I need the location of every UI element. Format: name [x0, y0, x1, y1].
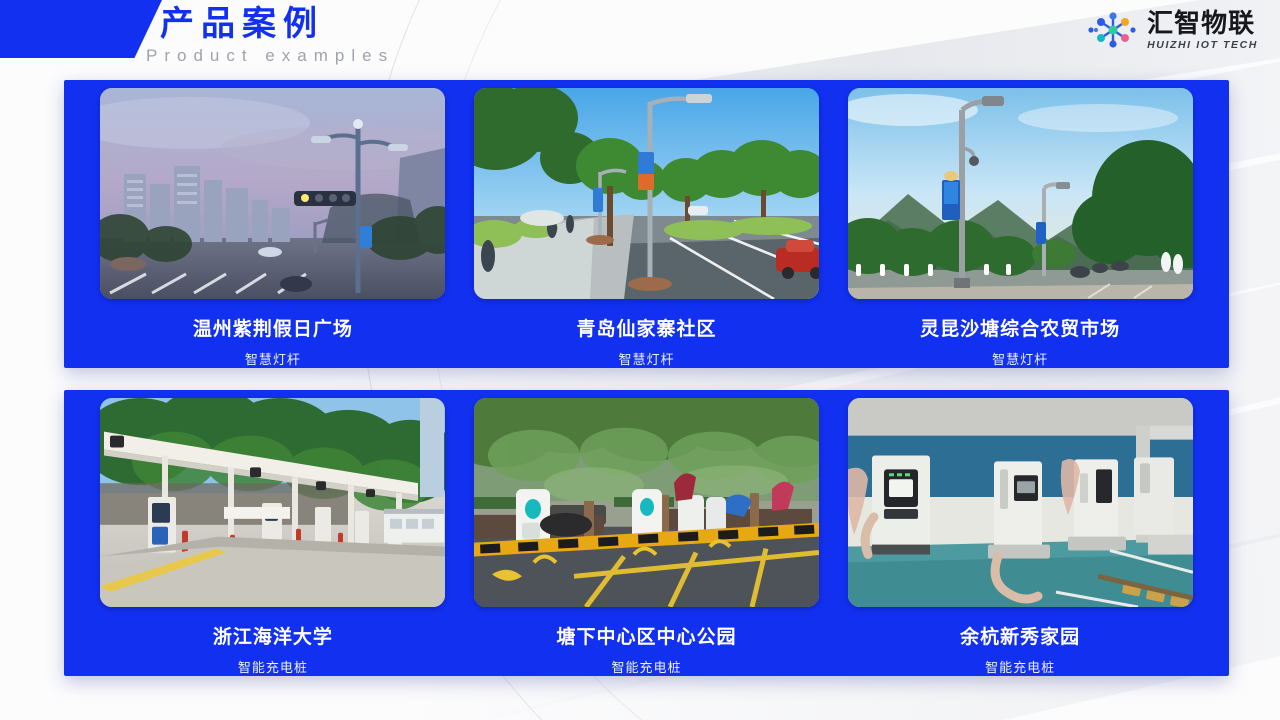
case-card[interactable]: 温州紫荆假日广场 智慧灯杆 — [86, 88, 460, 368]
case-title: 灵昆沙塘综合农贸市场 — [920, 314, 1120, 341]
case-subtitle: 智慧灯杆 — [245, 349, 301, 368]
case-title: 浙江海洋大学 — [213, 622, 333, 649]
case-title: 温州紫荆假日广场 — [193, 314, 353, 341]
case-subtitle: 智能充电桩 — [612, 657, 682, 676]
case-title: 青岛仙家寨社区 — [577, 314, 717, 341]
case-section-smart-charging-piles: 浙江海洋大学 智能充电桩 — [64, 390, 1229, 676]
brand-name: 汇智物联 HUIZHI IOT TECH — [1147, 10, 1258, 51]
case-title: 塘下中心区中心公园 — [557, 622, 737, 649]
brand-name-en: HUIZHI IOT TECH — [1147, 40, 1258, 51]
case-card[interactable]: 塘下中心区中心公园 智能充电桩 — [460, 398, 834, 676]
header-accent-shape — [0, 0, 162, 58]
case-title: 余杭新秀家园 — [960, 622, 1080, 649]
brand-logo: 汇智物联 HUIZHI IOT TECH — [1087, 10, 1258, 51]
case-card[interactable]: 灵昆沙塘综合农贸市场 智慧灯杆 — [833, 88, 1207, 368]
case-subtitle: 智慧灯杆 — [992, 349, 1048, 368]
case-thumbnail-dusk-city-street — [100, 88, 445, 299]
brand-name-cn: 汇智物联 — [1147, 10, 1258, 36]
case-card[interactable]: 浙江海洋大学 智能充电桩 — [86, 398, 460, 676]
case-thumbnail-indoor-garage-charging — [848, 398, 1193, 607]
case-card[interactable]: 青岛仙家寨社区 智慧灯杆 — [460, 88, 834, 368]
case-subtitle: 智慧灯杆 — [619, 349, 675, 368]
case-thumbnail-mountain-road-poles — [848, 88, 1193, 299]
case-section-smart-lamp-poles: 温州紫荆假日广场 智慧灯杆 — [64, 80, 1229, 368]
case-thumbnail-green-boulevard — [474, 88, 819, 299]
case-thumbnail-canopy-charging-station — [100, 398, 445, 607]
case-card[interactable]: 余杭新秀家园 智能充电桩 — [833, 398, 1207, 676]
case-subtitle: 智能充电桩 — [985, 657, 1055, 676]
case-subtitle: 智能充电桩 — [238, 657, 308, 676]
case-thumbnail-outdoor-parking-charging — [474, 398, 819, 607]
page-subtitle: Product examples — [146, 46, 394, 66]
page-title: 产品案例 — [160, 2, 324, 46]
molecule-network-icon — [1087, 10, 1139, 50]
